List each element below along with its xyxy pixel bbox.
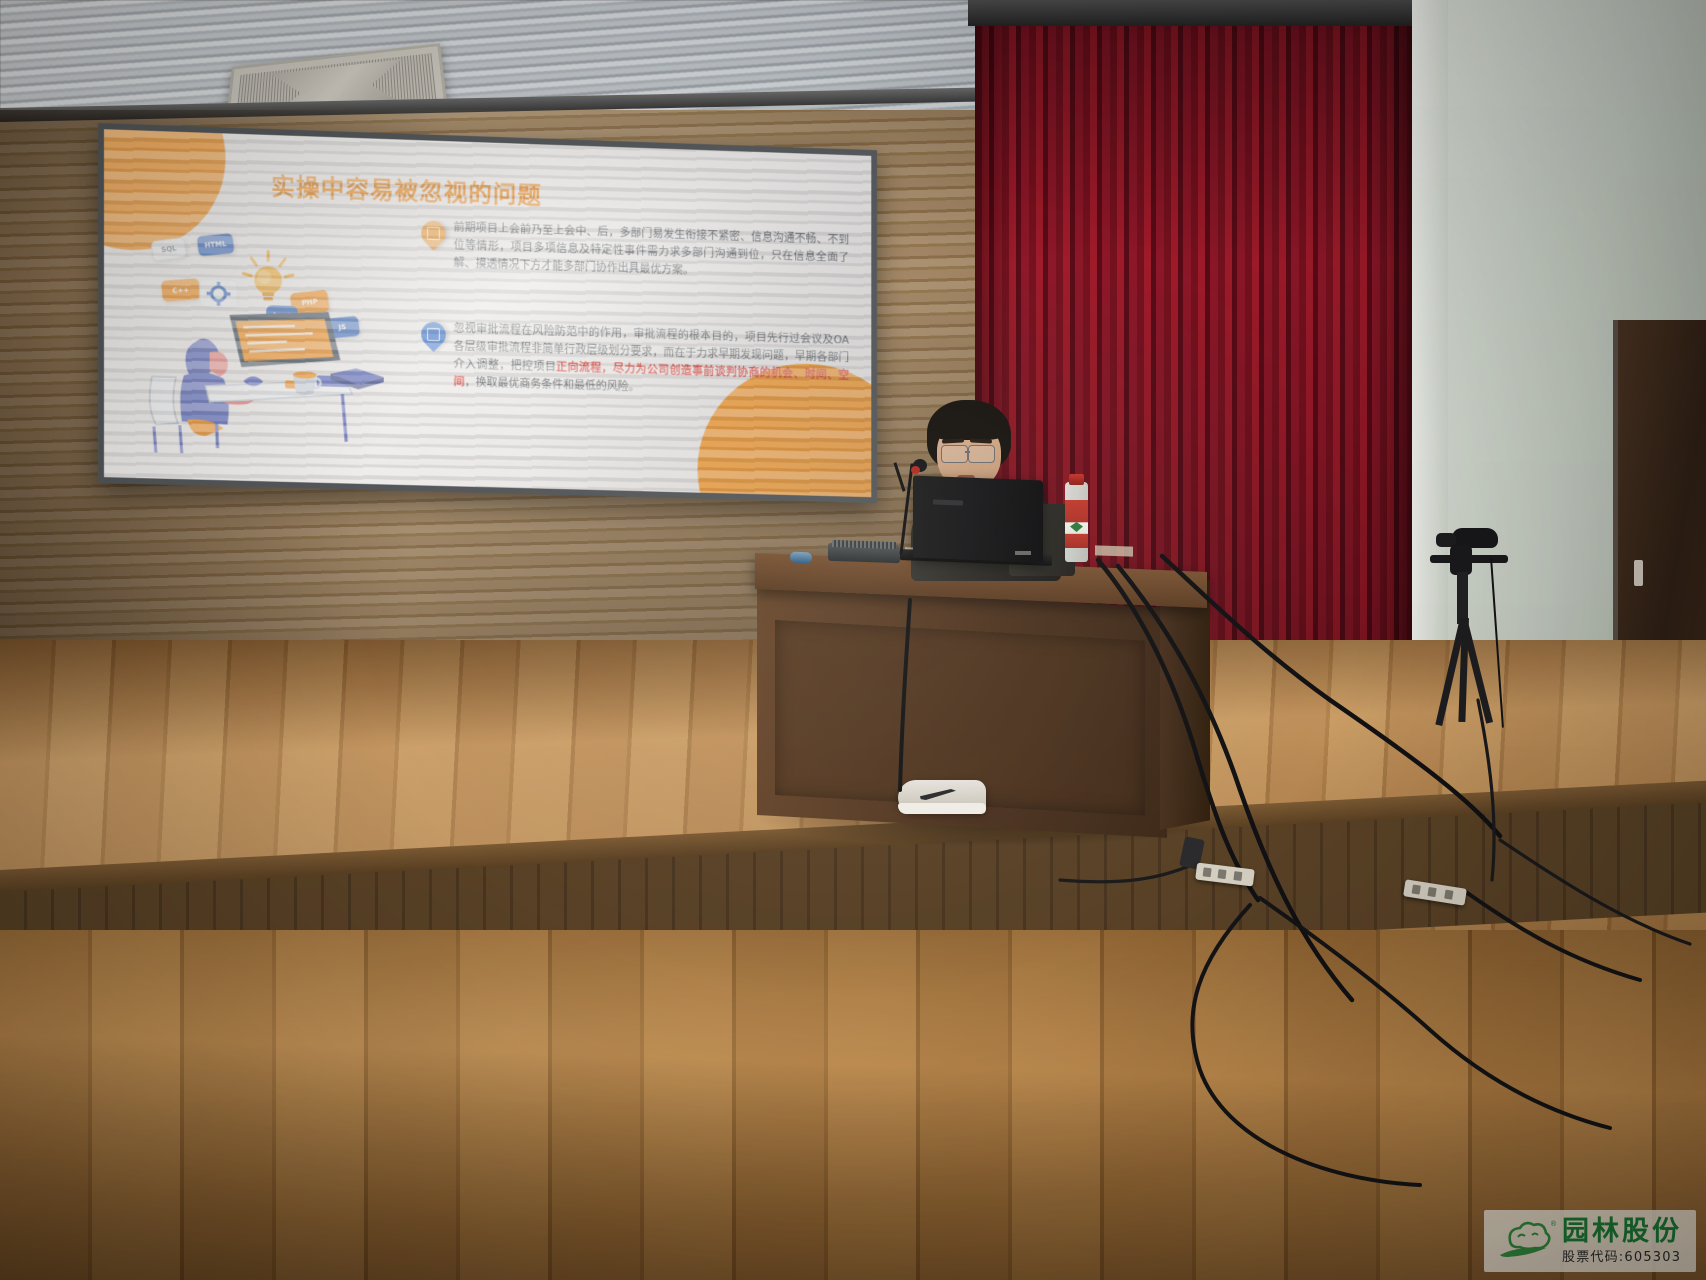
lower-floor-sheen <box>0 930 1706 1280</box>
door-handle[interactable] <box>1634 560 1643 586</box>
power-socket <box>1233 871 1242 881</box>
coffee-cup-icon <box>289 369 323 400</box>
small-blue-object[interactable] <box>790 552 812 564</box>
registered-mark: ® <box>1551 1221 1556 1228</box>
curtain-rail <box>968 0 1423 26</box>
laptop-brand-badge <box>933 499 963 505</box>
power-socket <box>1412 884 1421 894</box>
projected-slide: 实操中容易被忽视的问题 SQL HTML C++ PHP JS CSS <box>104 129 871 497</box>
presenter-fringe <box>930 406 1008 440</box>
power-socket <box>1218 869 1227 879</box>
camera-cable <box>1490 558 1504 728</box>
slide-bullet-2: 忽视审批流程在风险防范中的作用，审批流程的根本目的，项目先行过会议及OA各层级审… <box>421 319 849 403</box>
green-tree-cloud-logo-icon: ® <box>1494 1219 1552 1263</box>
bullet-pin-icon-2 <box>416 317 451 352</box>
sneaker-sole <box>898 803 986 814</box>
power-socket <box>1444 890 1453 900</box>
tag-sql: SQL <box>151 237 188 261</box>
bullet-pin-icon-1 <box>416 216 451 251</box>
watermark: ® 园林股份 股票代码:605303 <box>1484 1210 1696 1272</box>
desk-side-panel <box>1160 580 1210 830</box>
power-socket <box>1427 887 1436 897</box>
power-socket <box>1203 867 1212 877</box>
slide-title: 实操中容易被忽视的问题 <box>271 167 542 211</box>
watermark-stock-code: 股票代码:605303 <box>1562 1251 1682 1264</box>
tripod-pan-bar[interactable] <box>1430 555 1508 563</box>
watermark-company-name: 园林股份 <box>1562 1218 1682 1245</box>
watermark-text: 园林股份 股票代码:605303 <box>1562 1218 1682 1264</box>
tag-cpp: C++ <box>161 278 201 302</box>
glasses-lens-left-icon <box>941 445 968 463</box>
slide-bullet-1: 前期项目上会前乃至上会中、后，多部门易发生衔接不紧密、信息沟通不畅、不到位等情形… <box>421 218 849 285</box>
microphone-indicator-led <box>911 466 920 474</box>
water-bottle-cap[interactable] <box>1069 474 1084 485</box>
laptop-status-led <box>1015 551 1031 555</box>
book-icon <box>329 360 388 395</box>
tag-html: HTML <box>197 233 235 256</box>
developer-at-desk-illustration: SQL HTML C++ PHP JS CSS <box>144 228 392 444</box>
laptop[interactable] <box>913 476 1043 563</box>
bullet-2-tail: ，换取最优商务条件和最低的风险。 <box>465 376 640 394</box>
glasses-bridge <box>965 451 970 453</box>
photo-scene: 实操中容易被忽视的问题 SQL HTML C++ PHP JS CSS <box>0 0 1706 1280</box>
glasses-lens-right-icon <box>968 445 995 463</box>
desk-papers <box>1095 545 1133 556</box>
bullet-text-2: 忽视审批流程在风险防范中的作用，审批流程的根本目的，项目先行过会议及OA各层级审… <box>454 320 850 403</box>
projection-screen-frame: 实操中容易被忽视的问题 SQL HTML C++ PHP JS CSS <box>98 123 877 503</box>
bullet-text-1: 前期项目上会前乃至上会中、后，多部门易发生衔接不紧密、信息沟通不畅、不到位等情形… <box>454 219 850 285</box>
camera-tripod <box>1400 528 1570 718</box>
